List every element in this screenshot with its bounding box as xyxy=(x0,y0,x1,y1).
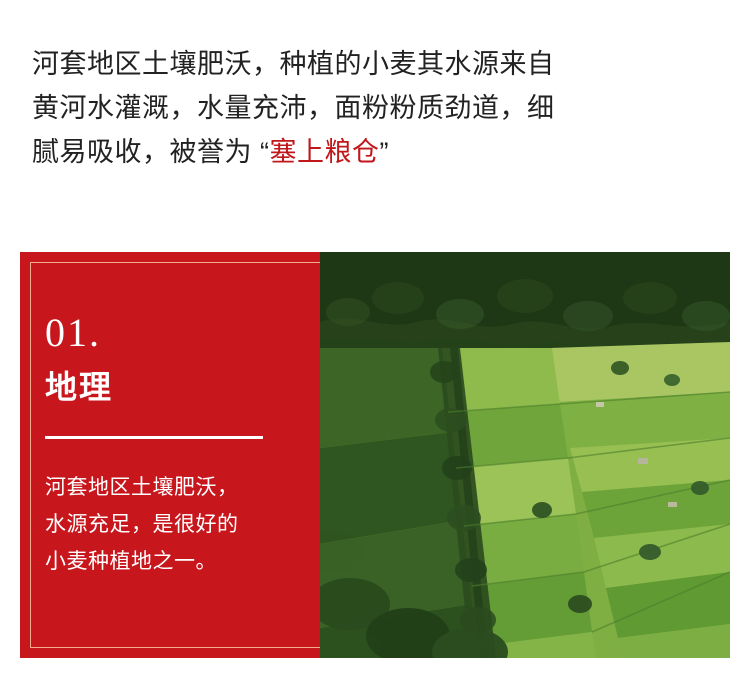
intro-highlight-text: 塞上粮仓 xyxy=(270,137,380,167)
intro-line-1: 河套地区土壤肥沃，种植的小麦其水源来自 xyxy=(32,42,722,86)
section-description-line-2: 水源充足，是很好的 xyxy=(45,506,303,543)
banner-text-block: 01. 地理 河套地区土壤肥沃， 水源充足，是很好的 小麦种植地之一。 xyxy=(20,252,320,658)
intro-line-3-suffix: ” xyxy=(380,137,390,167)
intro-line-2: 黄河水灌溉，水量充沛，面粉粉质劲道，细 xyxy=(32,86,722,130)
intro-paragraph: 河套地区土壤肥沃，种植的小麦其水源来自 黄河水灌溉，水量充沛，面粉粉质劲道，细 … xyxy=(32,42,722,174)
intro-line-3: 腻易吸收，被誉为 “塞上粮仓” xyxy=(32,130,722,174)
intro-line-3-prefix: 腻易吸收，被誉为 “ xyxy=(32,137,270,167)
divider-rule xyxy=(45,436,263,439)
farmland-photo-illustration xyxy=(320,252,730,658)
section-description: 河套地区土壤肥沃， 水源充足，是很好的 小麦种植地之一。 xyxy=(45,469,303,580)
section-description-line-3: 小麦种植地之一。 xyxy=(45,543,303,580)
section-banner: 01. 地理 河套地区土壤肥沃， 水源充足，是很好的 小麦种植地之一。 xyxy=(20,252,730,658)
farmland-photo xyxy=(320,252,730,658)
section-number: 01. xyxy=(45,310,320,356)
page-root: 河套地区土壤肥沃，种植的小麦其水源来自 黄河水灌溉，水量充沛，面粉粉质劲道，细 … xyxy=(0,0,750,678)
section-description-line-1: 河套地区土壤肥沃， xyxy=(45,469,303,506)
section-subtitle: 地理 xyxy=(45,368,320,406)
